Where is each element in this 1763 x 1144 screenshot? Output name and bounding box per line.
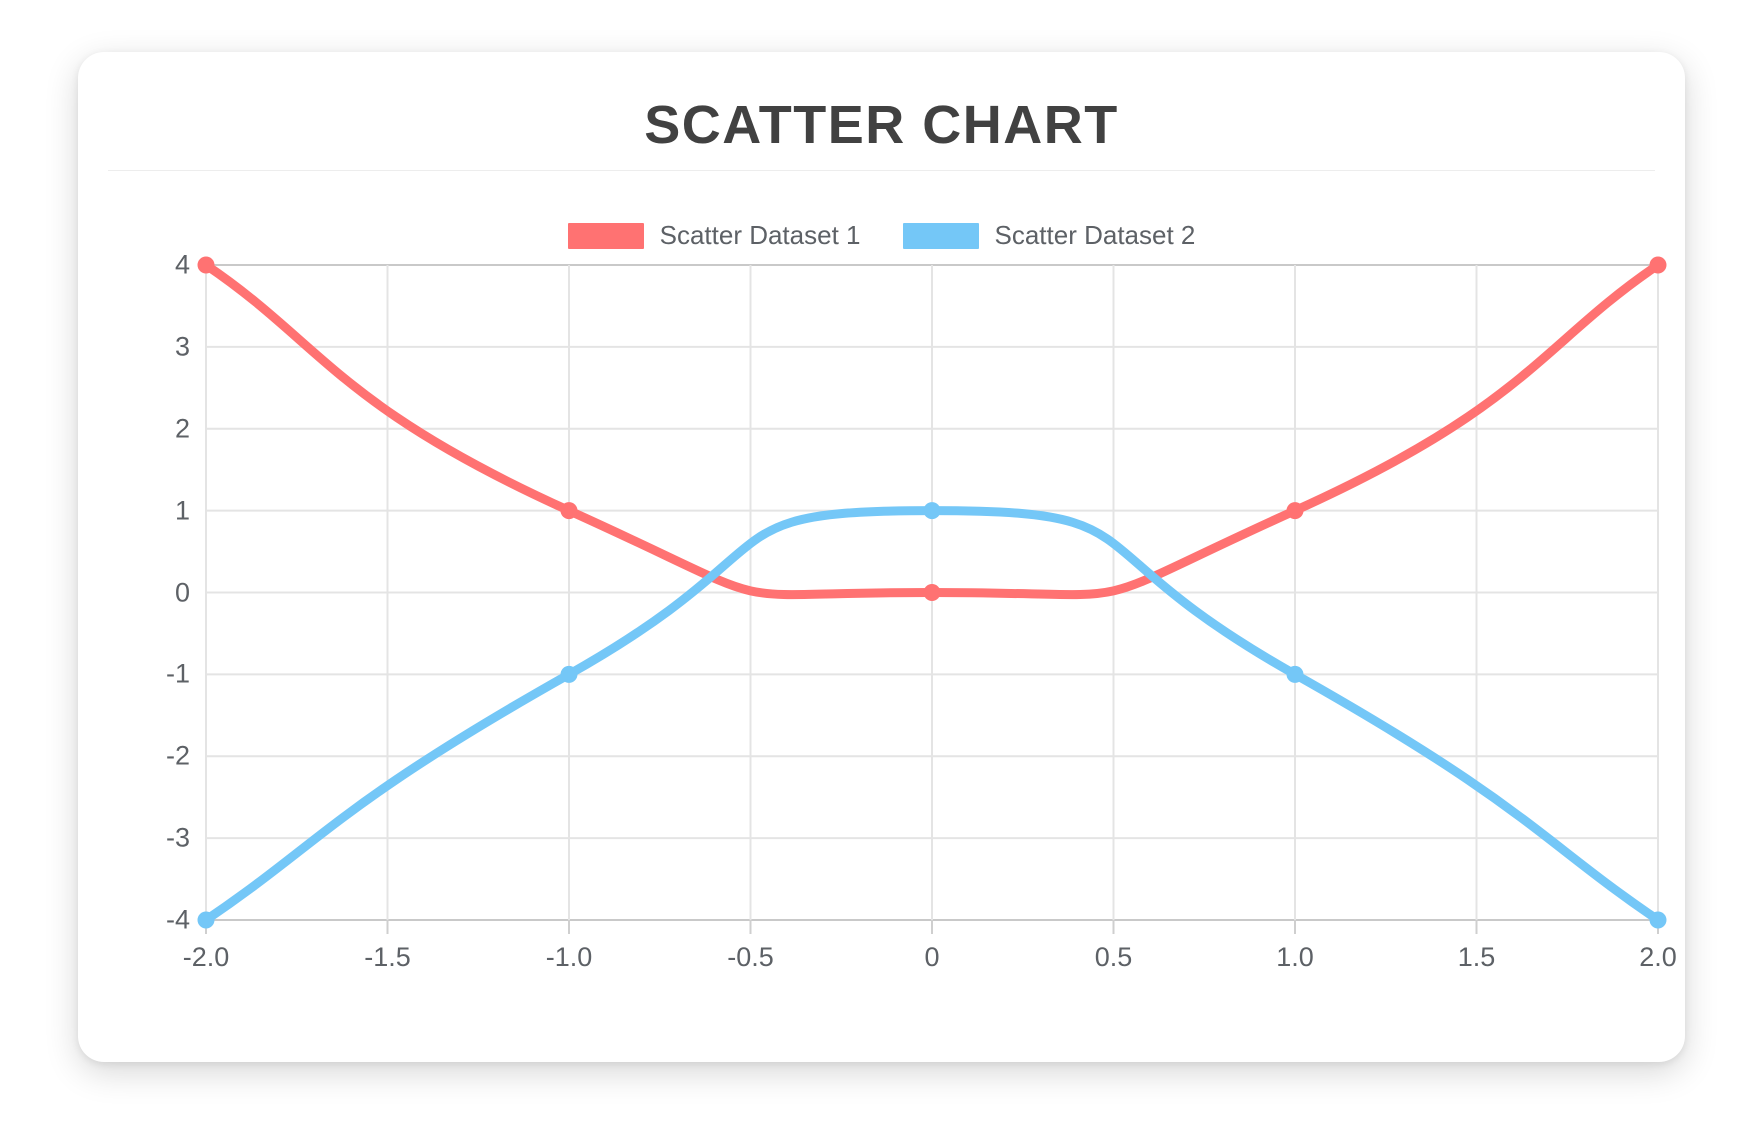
data-point-series-1[interactable] (1287, 502, 1304, 519)
y-tick-label: 1 (130, 495, 190, 526)
x-tick-label: -1.0 (524, 942, 614, 973)
data-point-series-2[interactable] (561, 666, 578, 683)
x-tick-label: -2.0 (161, 942, 251, 973)
x-tick-label: 2.0 (1613, 942, 1703, 973)
chart-canvas[interactable] (78, 52, 1685, 1062)
x-tick-label: 1.0 (1250, 942, 1340, 973)
data-point-series-2[interactable] (1650, 912, 1667, 929)
plot-area: 43210-1-2-3-4 -2.0-1.5-1.0-0.500.51.01.5… (78, 52, 1685, 1062)
chart-card: SCATTER CHART Scatter Dataset 1 Scatter … (78, 52, 1685, 1062)
data-point-series-2[interactable] (924, 502, 941, 519)
data-point-series-1[interactable] (561, 502, 578, 519)
x-tick-label: -0.5 (706, 942, 796, 973)
y-tick-label: -2 (130, 741, 190, 772)
data-point-series-1[interactable] (1650, 257, 1667, 274)
y-tick-label: -4 (130, 905, 190, 936)
x-tick-label: -1.5 (343, 942, 433, 973)
y-tick-label: -1 (130, 659, 190, 690)
data-point-series-2[interactable] (198, 912, 215, 929)
y-tick-label: 3 (130, 331, 190, 362)
data-point-series-1[interactable] (924, 584, 941, 601)
y-tick-label: 0 (130, 577, 190, 608)
x-tick-label: 1.5 (1432, 942, 1522, 973)
screenshot-root: SCATTER CHART Scatter Dataset 1 Scatter … (0, 0, 1763, 1144)
x-tick-label: 0.5 (1069, 942, 1159, 973)
y-tick-label: -3 (130, 823, 190, 854)
y-tick-label: 2 (130, 413, 190, 444)
x-tick-label: 0 (887, 942, 977, 973)
data-point-series-2[interactable] (1287, 666, 1304, 683)
data-point-series-1[interactable] (198, 257, 215, 274)
y-tick-label: 4 (130, 250, 190, 281)
